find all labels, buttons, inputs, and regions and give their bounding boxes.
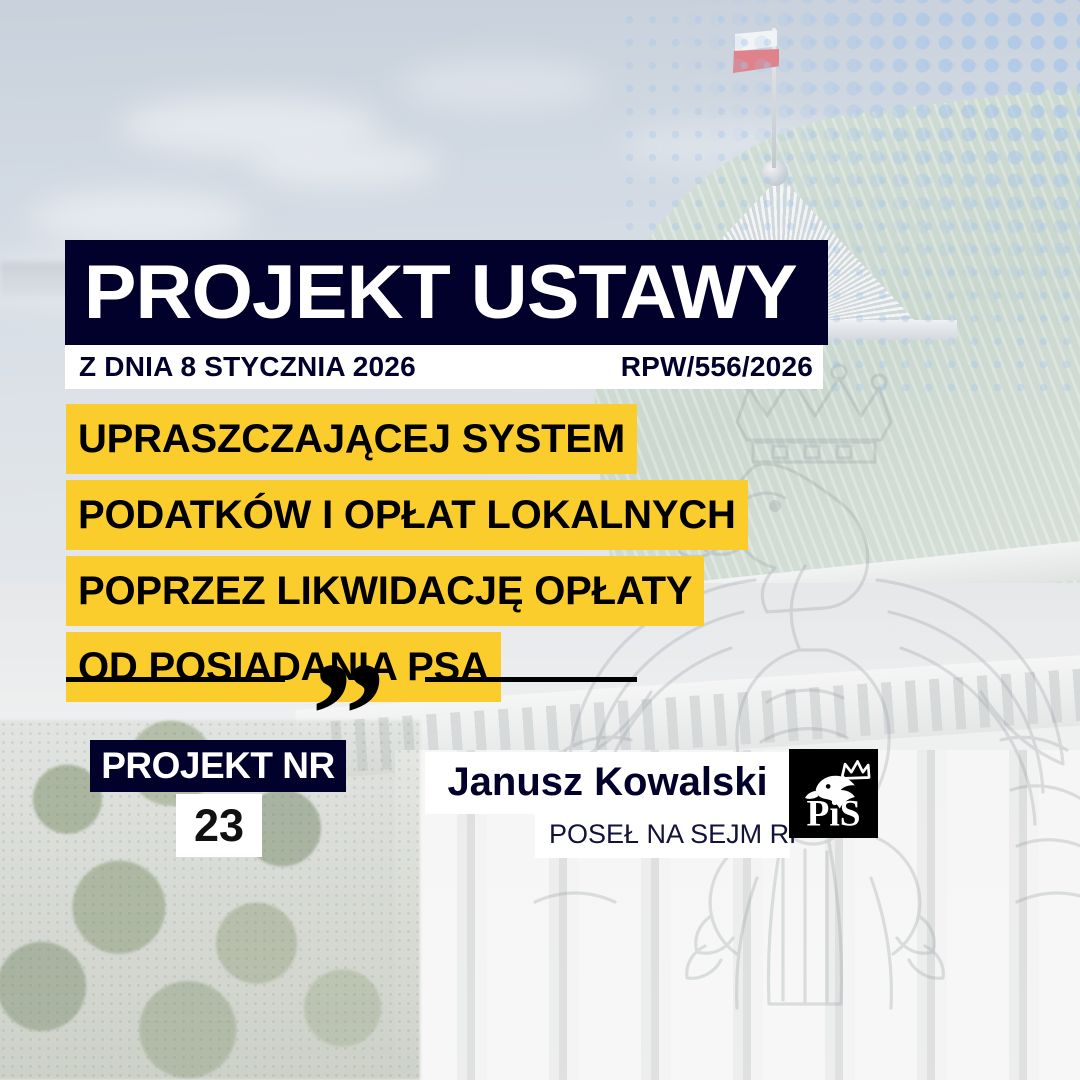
subtitle-line: UPRASZCZAJĄCEJ SYSTEM [66, 404, 637, 474]
svg-text:PiS: PiS [806, 794, 860, 835]
project-number-box: 23 [176, 794, 262, 857]
subtitle-line: OD POSIADANIA PSA [66, 632, 501, 702]
rpw-number: RPW/556/2026 [621, 351, 817, 383]
subtitle-line: PODATKÓW I OPŁAT LOKALNYCH [66, 480, 748, 550]
person-role: POSEŁ NA SEJM RP [535, 814, 790, 858]
project-number-label: PROJEKT NR [101, 745, 334, 787]
date-label: Z DNIA 8 STYCZNIA 2026 [79, 351, 416, 383]
divider-line-right [425, 677, 637, 682]
project-number-label-box: PROJEKT NR [90, 740, 346, 792]
person-name: Janusz Kowalski [425, 752, 790, 814]
divider-line-left [66, 677, 285, 682]
project-number-value: 23 [194, 800, 244, 852]
meta-band: Z DNIA 8 STYCZNIA 2026 RPW/556/2026 [65, 345, 823, 389]
title-box: PROJEKT USTAWY [65, 240, 828, 345]
subtitle-line: POPRZEZ LIKWIDACJĘ OPŁATY [66, 556, 704, 626]
pis-logo: PiS [789, 749, 878, 838]
poster-canvas: PROJEKT USTAWY Z DNIA 8 STYCZNIA 2026 RP… [0, 0, 1080, 1080]
page-title: PROJEKT USTAWY [65, 255, 797, 331]
poster-content: PROJEKT USTAWY Z DNIA 8 STYCZNIA 2026 RP… [0, 0, 1080, 1080]
subtitle-lines: UPRASZCZAJĄCEJ SYSTEM PODATKÓW I OPŁAT L… [66, 404, 1016, 708]
person-block: Janusz Kowalski POSEŁ NA SEJM RP [425, 752, 790, 858]
